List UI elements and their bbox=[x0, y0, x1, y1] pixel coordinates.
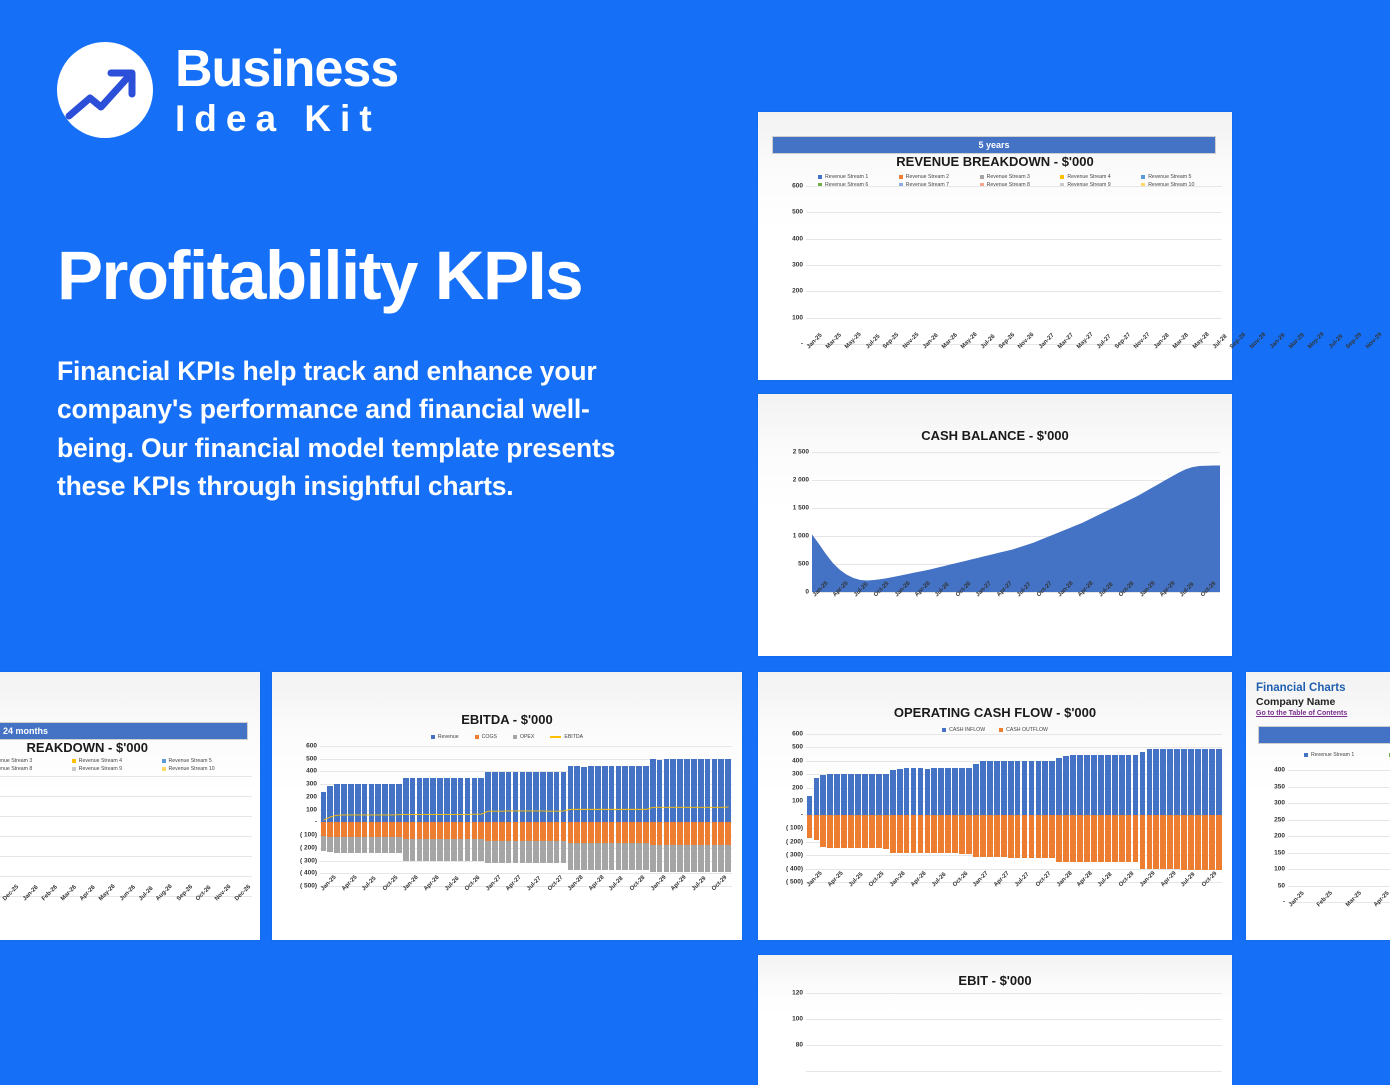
y-axis-tick: 500 bbox=[306, 755, 317, 762]
chart-legend-financial-charts: Revenue Stream 1Revenue Stream 6 bbox=[1304, 752, 1390, 758]
chart-title-revenue-breakdown-24m: REAKDOWN - $'000 bbox=[0, 740, 260, 755]
bar[interactable] bbox=[807, 734, 813, 882]
bar[interactable] bbox=[925, 734, 931, 882]
bar-segment bbox=[876, 774, 882, 815]
chart-title-operating-cash-flow: OPERATING CASH FLOW - $'000 bbox=[758, 705, 1232, 720]
bar-segment bbox=[1216, 815, 1222, 870]
bar-segment bbox=[834, 815, 840, 849]
y-axis-tick: ( 400) bbox=[786, 865, 803, 872]
y-axis-tick: 500 bbox=[792, 744, 803, 751]
bar[interactable] bbox=[1029, 734, 1035, 882]
legend-label: Revenue Stream 2 bbox=[906, 174, 949, 180]
legend-swatch bbox=[942, 728, 946, 732]
bar[interactable] bbox=[987, 734, 993, 882]
bar[interactable] bbox=[876, 734, 882, 882]
legend-swatch bbox=[431, 735, 435, 739]
legend-item: Revenue Stream 1 bbox=[818, 174, 899, 180]
legend-item: Revenue Stream 4 bbox=[72, 758, 162, 764]
bar[interactable] bbox=[1056, 734, 1062, 882]
bar-segment bbox=[1091, 815, 1097, 862]
bar[interactable] bbox=[938, 734, 944, 882]
legend-swatch bbox=[162, 767, 166, 771]
chart-title-cash-balance: CASH BALANCE - $'000 bbox=[758, 428, 1232, 443]
bar-segment bbox=[945, 815, 951, 854]
bar-segment bbox=[1147, 815, 1153, 869]
bar-segment bbox=[973, 764, 979, 814]
bar-segment bbox=[994, 761, 1000, 815]
bar[interactable] bbox=[1001, 734, 1007, 882]
company-name-label: Company Name bbox=[1256, 696, 1335, 708]
legend-item: OPEX bbox=[513, 734, 534, 740]
legend-swatch bbox=[72, 759, 76, 763]
plot-area-revenue-breakdown: 600500400300200100- bbox=[806, 186, 1222, 344]
bar[interactable] bbox=[1160, 734, 1166, 882]
legend-swatch bbox=[818, 175, 822, 179]
bar[interactable] bbox=[1126, 734, 1132, 882]
financial-charts-title: Financial Charts bbox=[1256, 682, 1345, 694]
bar-segment bbox=[1119, 815, 1125, 862]
card-ebitda[interactable]: EBITDA - $'000 RevenueCOGSOPEXEBITDA 600… bbox=[272, 672, 742, 940]
legend-label: OPEX bbox=[520, 734, 534, 740]
bar-segment bbox=[1126, 815, 1132, 862]
y-axis-tick: 100 bbox=[792, 314, 803, 321]
bar[interactable] bbox=[966, 734, 972, 882]
bar-segment bbox=[1001, 761, 1007, 815]
bar-segment bbox=[814, 815, 820, 840]
y-axis-tick: 100 bbox=[1274, 866, 1285, 873]
y-axis-tick: - bbox=[801, 811, 803, 818]
legend-item: Revenue Stream 9 bbox=[72, 766, 162, 772]
y-axis-tick: 150 bbox=[1274, 849, 1285, 856]
y-axis-tick: ( 100) bbox=[300, 832, 317, 839]
bar-segment bbox=[890, 770, 896, 814]
bar-segment bbox=[1167, 815, 1173, 869]
y-axis-tick: 100 bbox=[306, 806, 317, 813]
bar-segment bbox=[1063, 756, 1069, 815]
bar-segment bbox=[987, 761, 993, 815]
bar-segment bbox=[1056, 758, 1062, 815]
bar-segment bbox=[827, 774, 833, 815]
bar-segment bbox=[911, 768, 917, 814]
y-axis-tick: ( 300) bbox=[300, 857, 317, 864]
card-financial-charts[interactable]: Financial Charts Company Name Go to the … bbox=[1246, 672, 1390, 940]
x-axis-tick: Sep-29 bbox=[1345, 332, 1363, 350]
legend-item: Revenue Stream 2 bbox=[899, 174, 980, 180]
growth-chart-circle-icon bbox=[57, 42, 153, 138]
bar[interactable] bbox=[820, 734, 826, 882]
bar-segment bbox=[1022, 815, 1028, 858]
bar-segment bbox=[952, 768, 958, 814]
bar-segment bbox=[1029, 815, 1035, 858]
bar[interactable] bbox=[918, 734, 924, 882]
bar-segment bbox=[1063, 815, 1069, 862]
y-axis-tick: - bbox=[1283, 899, 1285, 906]
legend-label: Revenue Stream 9 bbox=[79, 766, 122, 772]
bar[interactable] bbox=[890, 734, 896, 882]
bar[interactable] bbox=[869, 734, 875, 882]
chart-legend-operating-cash-flow: CASH INFLOWCASH OUTFLOW bbox=[758, 727, 1232, 733]
bar[interactable] bbox=[827, 734, 833, 882]
bar[interactable] bbox=[945, 734, 951, 882]
bar-segment bbox=[959, 815, 965, 854]
y-axis-tick: 100 bbox=[792, 1016, 803, 1023]
y-axis-tick: 2 000 bbox=[793, 477, 809, 484]
slide-root: Business Idea Kit Profitability KPIs Fin… bbox=[0, 0, 1390, 1043]
bar-segment bbox=[1077, 755, 1083, 815]
bar-segment bbox=[918, 768, 924, 814]
bar[interactable] bbox=[952, 734, 958, 882]
bar[interactable] bbox=[1119, 734, 1125, 882]
card-revenue-breakdown-24-months[interactable]: 24 months REAKDOWN - $'000 Revenue Strea… bbox=[0, 672, 260, 940]
bar[interactable] bbox=[1112, 734, 1118, 882]
bar-segment bbox=[848, 774, 854, 815]
bar-segment bbox=[1188, 749, 1194, 815]
bar[interactable] bbox=[1153, 734, 1159, 882]
bar[interactable] bbox=[973, 734, 979, 882]
bar-segment bbox=[1147, 749, 1153, 815]
bar-segment bbox=[1056, 815, 1062, 862]
y-axis-tick: 1 000 bbox=[793, 533, 809, 540]
x-axis-tick: Mar-29 bbox=[1288, 332, 1306, 350]
plot-area-cash-balance: 2 5002 0001 5001 0005000 bbox=[812, 452, 1220, 592]
legend-label: Revenue Stream 10 bbox=[169, 766, 215, 772]
bar[interactable] bbox=[841, 734, 847, 882]
bar[interactable] bbox=[855, 734, 861, 882]
y-axis-tick: ( 500) bbox=[786, 879, 803, 886]
x-axis-tick: Nov-29 bbox=[1365, 332, 1383, 350]
bar[interactable] bbox=[1140, 734, 1146, 882]
bar-segment bbox=[1029, 761, 1035, 815]
bar-segment bbox=[890, 815, 896, 853]
x-axis-operating-cash-flow: Jan-25Apr-25Jul-25Oct-25Jan-26Apr-26Jul-… bbox=[806, 884, 1222, 890]
gridline bbox=[806, 1071, 1222, 1072]
bar-segment bbox=[855, 774, 861, 815]
bar[interactable] bbox=[1216, 734, 1222, 882]
bar-segment bbox=[1098, 815, 1104, 862]
bar[interactable] bbox=[911, 734, 917, 882]
bar-segment bbox=[1195, 815, 1201, 870]
bar-segment bbox=[1195, 749, 1201, 815]
bar-segment bbox=[841, 774, 847, 815]
bar-segment bbox=[1098, 755, 1104, 815]
bar-segment bbox=[1001, 815, 1007, 857]
legend-label: Revenue Stream 1 bbox=[1311, 752, 1354, 758]
plot-area-ebit: 12010080 bbox=[806, 993, 1222, 1071]
bar-segment bbox=[1160, 815, 1166, 869]
period-header-24-months: 24 months bbox=[0, 722, 248, 740]
bar[interactable] bbox=[1063, 734, 1069, 882]
card-revenue-breakdown-5-years[interactable]: 5 years REVENUE BREAKDOWN - $'000 Revenu… bbox=[758, 112, 1232, 380]
legend-swatch bbox=[162, 759, 166, 763]
bar[interactable] bbox=[848, 734, 854, 882]
bar-segment bbox=[1070, 815, 1076, 862]
bar-series bbox=[806, 993, 1222, 1071]
legend-label: Revenue Stream 8 bbox=[0, 766, 32, 772]
bar-segment bbox=[911, 815, 917, 854]
y-axis-tick: 200 bbox=[306, 793, 317, 800]
bar-segment bbox=[1049, 815, 1055, 858]
legend-item: Revenue Stream 5 bbox=[162, 758, 252, 764]
y-axis-tick: 400 bbox=[1274, 767, 1285, 774]
legend-item: Revenue Stream 8 bbox=[0, 766, 72, 772]
x-axis-tick: Nov-28 bbox=[1249, 332, 1267, 350]
legend-item: Revenue Stream 10 bbox=[162, 766, 252, 772]
x-axis-tick: Jul-29 bbox=[1328, 334, 1345, 351]
y-axis-tick: 2 500 bbox=[793, 449, 809, 456]
bar-segment bbox=[1188, 815, 1194, 870]
bar-segment bbox=[1105, 755, 1111, 815]
legend-item: Revenue Stream 5 bbox=[1141, 174, 1222, 180]
legend-swatch bbox=[1141, 175, 1145, 179]
legend-label: Revenue Stream 5 bbox=[1148, 174, 1191, 180]
bar-segment bbox=[1209, 815, 1215, 870]
legend-label: Revenue Stream 5 bbox=[169, 758, 212, 764]
bar[interactable] bbox=[1022, 734, 1028, 882]
legend-label: CASH OUTFLOW bbox=[1006, 727, 1048, 733]
bar-segment bbox=[1202, 749, 1208, 815]
table-of-contents-link[interactable]: Go to the Table of Contents bbox=[1256, 710, 1347, 717]
bar[interactable] bbox=[1147, 734, 1153, 882]
period-header-financial-charts bbox=[1258, 726, 1390, 744]
bar-series bbox=[0, 776, 252, 896]
bar-segment bbox=[1070, 755, 1076, 815]
chart-legend-ebitda: RevenueCOGSOPEXEBITDA bbox=[272, 734, 742, 740]
brand-name-line1: Business bbox=[175, 43, 398, 95]
legend-item: Revenue Stream 4 bbox=[1060, 174, 1141, 180]
bar-segment bbox=[1153, 815, 1159, 869]
bar-segment bbox=[1133, 755, 1139, 815]
bar[interactable] bbox=[1098, 734, 1104, 882]
legend-item: CASH INFLOW bbox=[942, 727, 985, 733]
bar-segment bbox=[1049, 761, 1055, 815]
legend-swatch bbox=[999, 728, 1003, 732]
legend-swatch bbox=[475, 735, 479, 739]
area-series bbox=[812, 452, 1220, 592]
bar-segment bbox=[1008, 761, 1014, 815]
bar[interactable] bbox=[1133, 734, 1139, 882]
x-axis-ebitda: Jan-25Apr-25Jul-25Oct-25Jan-26Apr-26Jul-… bbox=[320, 888, 732, 894]
bar[interactable] bbox=[994, 734, 1000, 882]
x-axis-tick: Sep-28 bbox=[1229, 332, 1247, 350]
bar[interactable] bbox=[883, 734, 889, 882]
bar[interactable] bbox=[834, 734, 840, 882]
y-axis-tick: ( 200) bbox=[786, 838, 803, 845]
bar-segment bbox=[994, 815, 1000, 857]
bar-segment bbox=[862, 815, 868, 849]
bar-segment bbox=[1112, 755, 1118, 815]
bar[interactable] bbox=[1209, 734, 1215, 882]
chart-title-revenue-breakdown: REVENUE BREAKDOWN - $'000 bbox=[758, 154, 1232, 169]
bar-segment bbox=[807, 815, 813, 838]
legend-item: Revenue Stream 3 bbox=[980, 174, 1061, 180]
y-axis-tick: 50 bbox=[1278, 882, 1285, 889]
bar-segment bbox=[973, 815, 979, 857]
legend-label: EBITDA bbox=[564, 734, 583, 740]
y-axis-tick: ( 100) bbox=[786, 825, 803, 832]
bar-segment bbox=[980, 815, 986, 857]
bar-series bbox=[806, 734, 1222, 882]
legend-swatch bbox=[72, 767, 76, 771]
chart-legend-revenue-breakdown-24m: Revenue Stream 3Revenue Stream 4Revenue … bbox=[0, 758, 254, 772]
bar-segment bbox=[897, 769, 903, 815]
bar-segment bbox=[931, 815, 937, 854]
brand-logo: Business Idea Kit bbox=[57, 42, 398, 138]
bar[interactable] bbox=[904, 734, 910, 882]
bar-segment bbox=[1153, 749, 1159, 815]
bar[interactable] bbox=[959, 734, 965, 882]
x-axis-revenue-breakdown: Jan-25Mar-25May-25Jul-25Sep-25Nov-25Jan-… bbox=[806, 346, 1222, 352]
y-axis-tick: ( 300) bbox=[786, 852, 803, 859]
card-cash-balance[interactable]: CASH BALANCE - $'000 2 5002 0001 5001 00… bbox=[758, 394, 1232, 656]
bar[interactable] bbox=[931, 734, 937, 882]
card-ebit[interactable]: EBIT - $'000 12010080 bbox=[758, 955, 1232, 1085]
y-axis-tick: 300 bbox=[792, 262, 803, 269]
bar-segment bbox=[1022, 761, 1028, 815]
bar-segment bbox=[862, 774, 868, 815]
bar-segment bbox=[945, 768, 951, 814]
y-axis-tick: 300 bbox=[792, 771, 803, 778]
bar[interactable] bbox=[1042, 734, 1048, 882]
y-axis-tick: 600 bbox=[306, 743, 317, 750]
bar[interactable] bbox=[1049, 734, 1055, 882]
bar-segment bbox=[1174, 815, 1180, 869]
bar[interactable] bbox=[814, 734, 820, 882]
bar-series bbox=[806, 186, 1222, 344]
bar-segment bbox=[966, 815, 972, 854]
bar[interactable] bbox=[1202, 734, 1208, 882]
bar[interactable] bbox=[1091, 734, 1097, 882]
y-axis-tick: 0 bbox=[805, 589, 809, 596]
y-axis-tick: ( 200) bbox=[300, 844, 317, 851]
bar-segment bbox=[1042, 815, 1048, 858]
bar-segment bbox=[1209, 749, 1215, 815]
bar[interactable] bbox=[1181, 734, 1187, 882]
bar-segment bbox=[952, 815, 958, 854]
bar-segment bbox=[834, 774, 840, 815]
y-axis-tick: ( 400) bbox=[300, 870, 317, 877]
legend-swatch bbox=[1060, 175, 1064, 179]
bar-segment bbox=[1181, 815, 1187, 870]
legend-item: Revenue bbox=[431, 734, 459, 740]
bar-segment bbox=[820, 815, 826, 848]
bar[interactable] bbox=[1015, 734, 1021, 882]
y-axis-tick: 120 bbox=[792, 990, 803, 997]
bar[interactable] bbox=[897, 734, 903, 882]
plot-area-operating-cash-flow: 600500400300200100-( 100)( 200)( 300)( 4… bbox=[806, 734, 1222, 882]
bar-segment bbox=[820, 775, 826, 815]
plot-area-ebitda: 600500400300200100-( 100)( 200)( 300)( 4… bbox=[320, 746, 732, 886]
bar-segment bbox=[814, 778, 820, 814]
bar-segment bbox=[1181, 749, 1187, 815]
bar[interactable] bbox=[862, 734, 868, 882]
chart-title-ebit: EBIT - $'000 bbox=[758, 973, 1232, 988]
x-axis-revenue-breakdown-24m: Nov-25Dec-25Jan-26Feb-26Mar-26Apr-26May-… bbox=[0, 898, 252, 904]
bar-segment bbox=[987, 815, 993, 857]
legend-label: Revenue Stream 1 bbox=[825, 174, 868, 180]
y-axis-tick: 350 bbox=[1274, 783, 1285, 790]
y-axis-tick: 500 bbox=[798, 561, 809, 568]
bar-segment bbox=[931, 768, 937, 814]
bar[interactable] bbox=[1167, 734, 1173, 882]
bar-segment bbox=[1042, 761, 1048, 815]
bar[interactable] bbox=[1036, 734, 1042, 882]
bar[interactable] bbox=[1195, 734, 1201, 882]
page-title: Profitability KPIs bbox=[57, 240, 582, 312]
bar-segment bbox=[1036, 761, 1042, 815]
y-axis-tick: 100 bbox=[792, 798, 803, 805]
legend-label: CASH INFLOW bbox=[949, 727, 985, 733]
y-axis-tick: 400 bbox=[306, 768, 317, 775]
period-header-5-years: 5 years bbox=[772, 136, 1216, 154]
bar-segment bbox=[925, 769, 931, 815]
bar-segment bbox=[1105, 815, 1111, 862]
y-axis-tick: 200 bbox=[1274, 833, 1285, 840]
x-axis-financial-charts: Jan-25Feb-25Mar-25Apr-25May-25Jun-25 bbox=[1288, 904, 1390, 910]
bar-segment bbox=[1015, 815, 1021, 858]
bar-segment bbox=[1126, 755, 1132, 815]
bar[interactable] bbox=[1105, 734, 1111, 882]
bar-segment bbox=[883, 815, 889, 849]
bar-segment bbox=[918, 815, 924, 854]
bar-segment bbox=[841, 815, 847, 849]
y-axis-tick: 500 bbox=[792, 209, 803, 216]
line-series bbox=[320, 746, 732, 886]
y-axis-tick: 400 bbox=[792, 235, 803, 242]
legend-item: Revenue Stream 1 bbox=[1304, 752, 1389, 758]
card-operating-cash-flow[interactable]: OPERATING CASH FLOW - $'000 CASH INFLOWC… bbox=[758, 672, 1232, 940]
bar[interactable] bbox=[1084, 734, 1090, 882]
bar[interactable] bbox=[1188, 734, 1194, 882]
y-axis-tick: 600 bbox=[792, 183, 803, 190]
bar[interactable] bbox=[980, 734, 986, 882]
bar[interactable] bbox=[1077, 734, 1083, 882]
bar-segment bbox=[938, 768, 944, 814]
y-axis-tick: 200 bbox=[792, 288, 803, 295]
x-axis-tick: May-29 bbox=[1307, 332, 1326, 351]
bar-segment bbox=[1077, 815, 1083, 862]
bar-segment bbox=[1202, 815, 1208, 870]
bar-segment bbox=[1084, 815, 1090, 862]
bar-segment bbox=[855, 815, 861, 849]
bar-segment bbox=[1084, 755, 1090, 815]
bar-segment bbox=[1091, 755, 1097, 815]
bar[interactable] bbox=[1008, 734, 1014, 882]
y-axis-tick: - bbox=[801, 341, 803, 348]
bar-segment bbox=[807, 796, 813, 815]
bar-segment bbox=[869, 815, 875, 849]
bar[interactable] bbox=[1174, 734, 1180, 882]
legend-label: COGS bbox=[482, 734, 497, 740]
bar-segment bbox=[966, 768, 972, 815]
plot-area-financial-charts: 40035030025020015010050- bbox=[1288, 770, 1390, 902]
chart-title-ebitda: EBITDA - $'000 bbox=[272, 712, 742, 727]
bar-segment bbox=[1112, 815, 1118, 862]
legend-item: COGS bbox=[475, 734, 497, 740]
legend-item: EBITDA bbox=[550, 734, 583, 740]
y-axis-tick: 400 bbox=[792, 757, 803, 764]
bar[interactable] bbox=[1070, 734, 1076, 882]
bar-segment bbox=[959, 768, 965, 815]
bar-segment bbox=[1160, 749, 1166, 815]
y-axis-tick: 300 bbox=[306, 781, 317, 788]
y-axis-tick: 600 bbox=[792, 731, 803, 738]
legend-swatch bbox=[550, 736, 561, 738]
bar-segment bbox=[925, 815, 931, 854]
x-axis-cash-balance: Jan-25Apr-25Jul-25Oct-25Jan-26Apr-26Jul-… bbox=[812, 594, 1220, 600]
legend-label: Revenue Stream 4 bbox=[1067, 174, 1110, 180]
legend-label: Revenue Stream 3 bbox=[987, 174, 1030, 180]
bar-segment bbox=[980, 761, 986, 814]
